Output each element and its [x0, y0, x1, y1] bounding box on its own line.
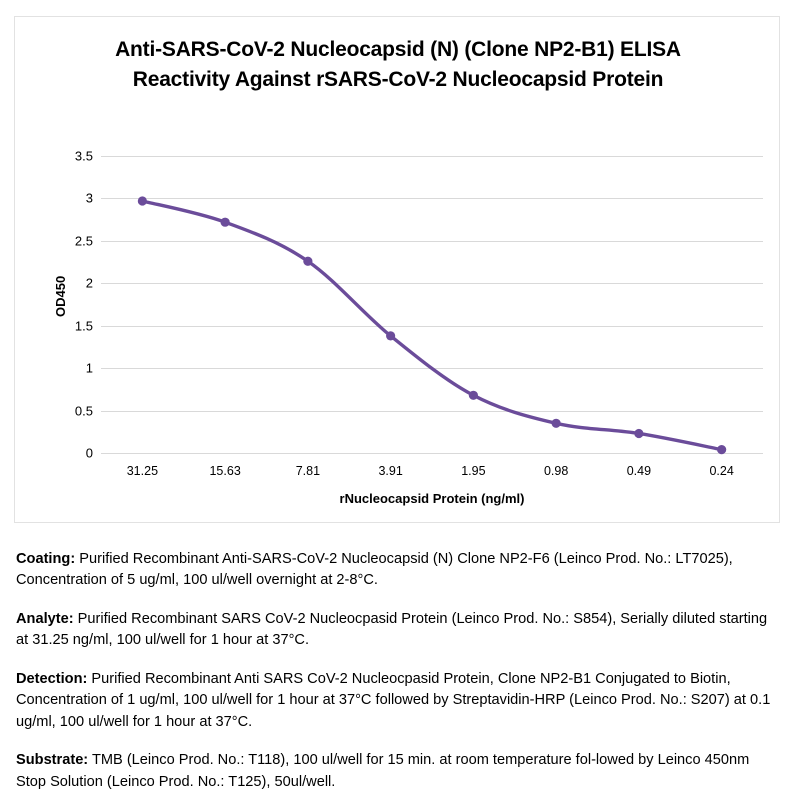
x-axis-label: rNucleocapsid Protein (ng/ml) [101, 491, 763, 506]
chart-title-line-2: Reactivity Against rSARS-CoV-2 Nucleocap… [33, 65, 763, 95]
data-point-marker [221, 218, 230, 227]
caption-term: Substrate: [16, 752, 88, 768]
data-point-marker [469, 391, 478, 400]
x-axis-tick-label: 15.63 [209, 464, 240, 478]
y-axis-tick-label: 0.5 [75, 403, 93, 418]
caption-block: Detection: Purified Recombinant Anti SAR… [16, 669, 782, 734]
plot-area: 00.511.522.533.5 31.2515.637.813.911.950… [101, 156, 763, 453]
caption-term: Analyte: [16, 611, 74, 627]
data-point-marker [386, 331, 395, 340]
chart-panel: Anti-SARS-CoV-2 Nucleocapsid (N) (Clone … [14, 16, 780, 523]
data-point-marker [303, 257, 312, 266]
y-axis-tick-label: 1.5 [75, 318, 93, 333]
caption-block: Analyte: Purified Recombinant SARS CoV-2… [16, 609, 782, 652]
x-axis-tick-label: 0.24 [709, 464, 733, 478]
y-axis-tick-label: 1 [86, 361, 93, 376]
data-series-od450 [101, 156, 763, 453]
x-axis-tick-label: 1.95 [461, 464, 485, 478]
data-point-marker [717, 445, 726, 454]
y-axis-tick-label: 2 [86, 276, 93, 291]
y-axis-tick-label: 3 [86, 191, 93, 206]
caption-text: Purified Recombinant SARS CoV-2 Nucleocp… [16, 611, 767, 649]
data-point-marker [138, 196, 147, 205]
caption-term: Coating: [16, 551, 75, 567]
caption-term: Detection: [16, 671, 87, 687]
x-axis-tick-label: 3.91 [378, 464, 402, 478]
y-axis-tick-label: 0 [86, 446, 93, 461]
y-axis-label: OD450 [53, 276, 68, 317]
chart-title: Anti-SARS-CoV-2 Nucleocapsid (N) (Clone … [33, 35, 763, 95]
y-axis-tick-label: 3.5 [75, 149, 93, 164]
chart-title-line-1: Anti-SARS-CoV-2 Nucleocapsid (N) (Clone … [115, 38, 681, 61]
caption-text: TMB (Leinco Prod. No.: T118), 100 ul/wel… [16, 752, 749, 790]
y-axis-tick-label: 2.5 [75, 233, 93, 248]
series-line [142, 201, 721, 450]
gridline [101, 453, 763, 454]
x-axis-tick-label: 31.25 [127, 464, 158, 478]
x-axis-tick-label: 7.81 [296, 464, 320, 478]
x-axis-tick-label: 0.49 [627, 464, 651, 478]
assay-method-captions: Coating: Purified Recombinant Anti-SARS-… [16, 534, 782, 793]
x-axis-tick-label: 0.98 [544, 464, 568, 478]
caption-text: Purified Recombinant Anti SARS CoV-2 Nuc… [16, 671, 770, 730]
data-point-marker [634, 429, 643, 438]
caption-block: Substrate: TMB (Leinco Prod. No.: T118),… [16, 750, 782, 793]
caption-block: Coating: Purified Recombinant Anti-SARS-… [16, 549, 782, 592]
page-root: Anti-SARS-CoV-2 Nucleocapsid (N) (Clone … [0, 0, 800, 800]
caption-text: Purified Recombinant Anti-SARS-CoV-2 Nuc… [16, 551, 733, 589]
data-point-marker [552, 419, 561, 428]
